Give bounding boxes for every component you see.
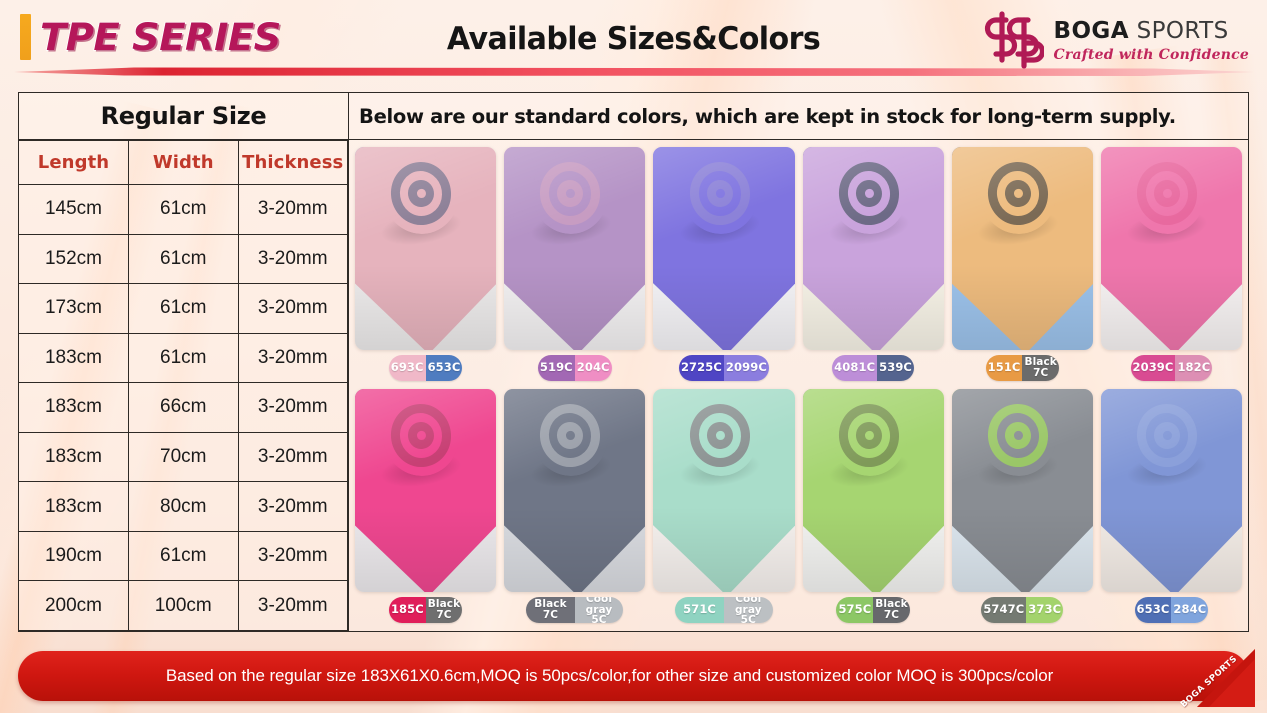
cell-width: 61cm	[129, 185, 239, 235]
cell-width: 61cm	[129, 531, 239, 581]
table-row: 145cm61cm3-20mm	[19, 185, 348, 235]
color-option-mat-cornflower[interactable]: 653C284C	[1101, 389, 1242, 625]
cell-width: 61cm	[129, 234, 239, 284]
cell-length: 183cm	[19, 383, 129, 433]
cell-thickness: 3-20mm	[238, 333, 348, 383]
cell-width: 61cm	[129, 333, 239, 383]
pantone-code-right: Cool gray 5C	[575, 597, 624, 623]
mat-photo	[1101, 147, 1242, 350]
column-header-width: Width	[129, 141, 239, 185]
mat-photo	[504, 389, 645, 592]
footer-bar: Based on the regular size 183X61X0.6cm,M…	[18, 651, 1249, 701]
color-option-mat-lilac-pink[interactable]: 519C204C	[504, 147, 645, 383]
content-area: Regular Size Length Width Thickness 145c…	[18, 92, 1249, 632]
pantone-code-right: 284C	[1171, 597, 1208, 623]
cell-length: 183cm	[19, 333, 129, 383]
cell-thickness: 3-20mm	[238, 482, 348, 532]
table-row: 183cm70cm3-20mm	[19, 432, 348, 482]
moq-note: Based on the regular size 183X61X0.6cm,M…	[146, 666, 1121, 686]
pantone-swatch-pill[interactable]: 5747C373C	[981, 597, 1063, 623]
pantone-code-left: 4081C	[832, 355, 877, 381]
pantone-swatch-pill[interactable]: 653C284C	[1135, 597, 1209, 623]
cell-thickness: 3-20mm	[238, 284, 348, 334]
column-header-length: Length	[19, 141, 129, 185]
pantone-code-right: 2099C	[724, 355, 769, 381]
mat-photo	[803, 389, 944, 592]
cell-width: 61cm	[129, 284, 239, 334]
pantone-code-right: 539C	[877, 355, 914, 381]
pantone-code-left: 575C	[836, 597, 873, 623]
pantone-swatch-pill[interactable]: 2725C2099C	[679, 355, 769, 381]
mat-photo	[1101, 389, 1242, 592]
color-option-mat-green-gray[interactable]: 575CBlack 7C	[803, 389, 944, 625]
cell-thickness: 3-20mm	[238, 234, 348, 284]
pantone-code-left: 5747C	[981, 597, 1026, 623]
table-row: 152cm61cm3-20mm	[19, 234, 348, 284]
table-row: 183cm80cm3-20mm	[19, 482, 348, 532]
pantone-swatch-pill[interactable]: Black 7CCool gray 5C	[526, 597, 623, 623]
pantone-swatch-pill[interactable]: 2039C182C	[1131, 355, 1213, 381]
pantone-swatch-pill[interactable]: 4081C539C	[832, 355, 914, 381]
table-row: 183cm61cm3-20mm	[19, 333, 348, 383]
cell-width: 66cm	[129, 383, 239, 433]
cell-width: 70cm	[129, 432, 239, 482]
pantone-code-right: 204C	[575, 355, 612, 381]
pantone-code-right: Black 7C	[873, 597, 909, 623]
standard-colors-panel: Below are our standard colors, which are…	[348, 92, 1249, 632]
cell-length: 200cm	[19, 581, 129, 631]
size-table-header-row: Length Width Thickness	[19, 141, 348, 185]
cell-width: 80cm	[129, 482, 239, 532]
pantone-code-left: 151C	[986, 355, 1023, 381]
mat-photo	[952, 147, 1093, 350]
pantone-code-left: Black 7C	[526, 597, 575, 623]
pantone-swatch-pill[interactable]: 185CBlack 7C	[389, 597, 462, 623]
mat-photo	[504, 147, 645, 350]
brand-name: BOGA SPORTS	[1054, 20, 1249, 43]
cell-length: 183cm	[19, 432, 129, 482]
cell-length: 183cm	[19, 482, 129, 532]
mat-photo	[803, 147, 944, 350]
pantone-swatch-pill[interactable]: 151CBlack 7C	[986, 355, 1059, 381]
color-option-mat-gray-green[interactable]: 5747C373C	[952, 389, 1093, 625]
pantone-code-right: Black 7C	[426, 597, 462, 623]
cell-thickness: 3-20mm	[238, 531, 348, 581]
table-row: 183cm66cm3-20mm	[19, 383, 348, 433]
color-option-mat-hot-pink[interactable]: 2039C182C	[1101, 147, 1242, 383]
brand-lockup: BOGA SPORTS Crafted with Confidence	[982, 10, 1249, 70]
size-panel-caption: Regular Size	[19, 93, 348, 140]
size-table: Length Width Thickness 145cm61cm3-20mm15…	[19, 140, 348, 631]
color-option-mat-orange-slate[interactable]: 151CBlack 7C	[952, 147, 1093, 383]
cell-length: 190cm	[19, 531, 129, 581]
pantone-code-right: 653C	[426, 355, 463, 381]
table-row: 200cm100cm3-20mm	[19, 581, 348, 631]
pantone-code-left: 519C	[538, 355, 575, 381]
pantone-swatch-pill[interactable]: 575CBlack 7C	[836, 597, 909, 623]
mat-photo	[952, 389, 1093, 592]
pantone-swatch-pill[interactable]: 693C653C	[389, 355, 463, 381]
pantone-code-left: 571C	[675, 597, 724, 623]
cell-thickness: 3-20mm	[238, 581, 348, 631]
cell-thickness: 3-20mm	[238, 432, 348, 482]
column-header-thickness: Thickness	[238, 141, 348, 185]
header: TPE SERIES Available Sizes&Colors BOGA S…	[0, 0, 1267, 92]
color-option-mat-periwinkle[interactable]: 2725C2099C	[653, 147, 794, 383]
color-option-mat-magenta-gray[interactable]: 185CBlack 7C	[355, 389, 496, 625]
pantone-swatch-pill[interactable]: 519C204C	[538, 355, 612, 381]
color-option-mat-mint-gray[interactable]: 571CCool gray 5C	[653, 389, 794, 625]
pantone-code-left: 2725C	[679, 355, 724, 381]
pantone-code-right: Black 7C	[1022, 355, 1058, 381]
pantone-code-left: 2039C	[1131, 355, 1176, 381]
pantone-code-left: 693C	[389, 355, 426, 381]
mat-photo	[653, 389, 794, 592]
brand-text: BOGA SPORTS Crafted with Confidence	[1054, 18, 1249, 62]
slide-root: TPE SERIES Available Sizes&Colors BOGA S…	[0, 0, 1267, 713]
color-option-mat-lilac-slate[interactable]: 4081C539C	[803, 147, 944, 383]
cell-length: 173cm	[19, 284, 129, 334]
brand-name-secondary: SPORTS	[1137, 18, 1229, 44]
table-row: 173cm61cm3-20mm	[19, 284, 348, 334]
pantone-swatch-pill[interactable]: 571CCool gray 5C	[675, 597, 772, 623]
regular-size-panel: Regular Size Length Width Thickness 145c…	[18, 92, 348, 632]
pantone-code-right: Cool gray 5C	[724, 597, 773, 623]
brand-name-primary: BOGA	[1054, 18, 1129, 44]
table-row: 190cm61cm3-20mm	[19, 531, 348, 581]
pantone-code-right: 373C	[1026, 597, 1063, 623]
cell-thickness: 3-20mm	[238, 383, 348, 433]
footer-banner: Based on the regular size 183X61X0.6cm,M…	[18, 651, 1249, 701]
cell-length: 145cm	[19, 185, 129, 235]
pantone-code-right: 182C	[1175, 355, 1212, 381]
header-divider	[14, 66, 1254, 77]
mat-photo	[355, 389, 496, 592]
boga-logo-icon	[982, 10, 1044, 70]
color-option-mat-slate-gray[interactable]: Black 7CCool gray 5C	[504, 389, 645, 625]
color-option-mat-pink-blue[interactable]: 693C653C	[355, 147, 496, 383]
pantone-code-left: 653C	[1135, 597, 1172, 623]
cell-width: 100cm	[129, 581, 239, 631]
cell-length: 152cm	[19, 234, 129, 284]
brand-tagline: Crafted with Confidence	[1054, 48, 1249, 62]
cell-thickness: 3-20mm	[238, 185, 348, 235]
color-mat-grid: 693C653C519C204C2725C2099C4081C539C151CB…	[349, 140, 1248, 631]
mat-photo	[355, 147, 496, 350]
mat-photo	[653, 147, 794, 350]
pantone-code-left: 185C	[389, 597, 426, 623]
colors-panel-caption: Below are our standard colors, which are…	[349, 93, 1248, 140]
